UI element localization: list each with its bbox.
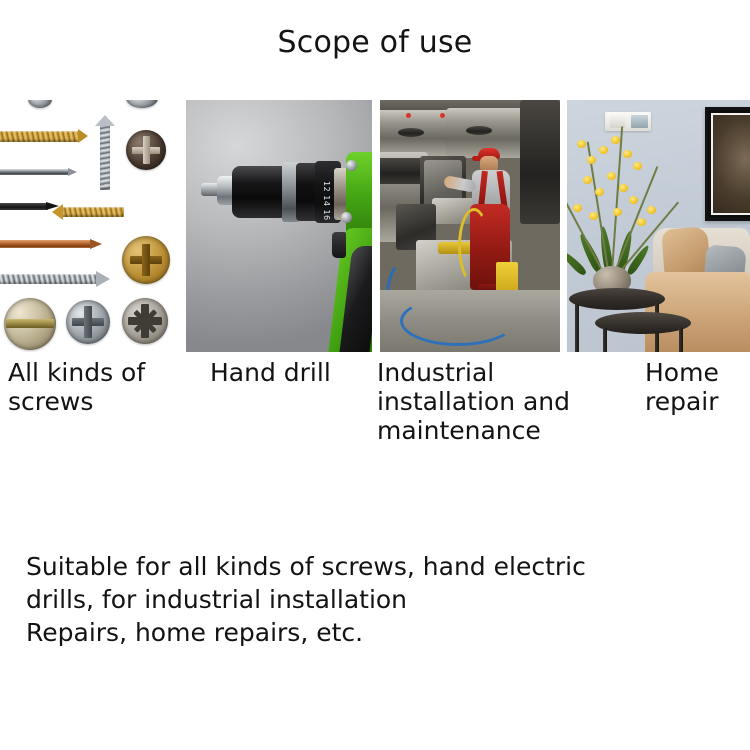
screw-silver-vertical	[100, 124, 110, 190]
orchid-bloom	[587, 156, 596, 164]
screw-head-steel-phillips	[66, 300, 110, 344]
orchid-bloom	[629, 196, 638, 204]
orchid-bloom	[607, 172, 616, 180]
slot-groove	[6, 319, 54, 328]
orchid-bloom	[589, 212, 598, 220]
tank-indicator-a	[406, 113, 411, 118]
orchid-bloom	[595, 188, 604, 196]
scope-image-strip: 12 14 16	[0, 100, 750, 352]
artwork-canvas	[711, 113, 750, 215]
side-table-tall-leg-left	[575, 304, 579, 352]
screw-head-gold-phillips	[122, 236, 170, 284]
orchid-bloom	[573, 204, 582, 212]
caption-row: All kinds of screws Hand drill Industria…	[0, 358, 750, 478]
tank-port-a	[398, 128, 424, 137]
side-table-tall-top	[569, 288, 665, 310]
screws-photo	[0, 100, 178, 352]
wall-thermostat	[605, 112, 651, 131]
framed-artwork	[705, 107, 750, 221]
screw-head-partial-top-right	[126, 100, 158, 108]
screw-silver-head-long	[96, 271, 110, 287]
orchid-bloom	[577, 140, 586, 148]
page-title: Scope of use	[0, 26, 750, 60]
blue-hose-on-floor	[400, 296, 516, 346]
screw-gold-head-2	[52, 204, 63, 220]
factory-rear-column	[520, 100, 560, 224]
housing-bolt-upper	[346, 160, 357, 171]
orchid-bloom	[647, 206, 656, 214]
orchid-bloom	[619, 184, 628, 192]
footer-description: Suitable for all kinds of screws, hand e…	[26, 550, 726, 649]
screw-head-slotted	[4, 298, 56, 350]
orchid-bloom	[611, 136, 620, 144]
nail-steel-shank	[0, 169, 70, 175]
phillips-slot-vertical	[142, 244, 150, 276]
nail-copper-shank	[0, 240, 92, 248]
orchid-bloom	[599, 146, 608, 154]
caption-industrial-installation: Industrial installation and maintenance	[377, 358, 607, 445]
orchid-bloom	[623, 150, 632, 158]
screw-gold-thread-2	[62, 207, 124, 217]
screw-silver-head	[95, 115, 115, 126]
phillips-slot-vertical	[143, 136, 150, 164]
nail-black-shank	[0, 203, 48, 210]
side-table-low-top	[595, 312, 691, 334]
side-table-low-leg-left	[603, 328, 607, 352]
thermostat-display	[631, 115, 648, 128]
orchid-bloom	[583, 176, 592, 184]
nail-copper-point	[90, 239, 102, 249]
chuck-body	[232, 166, 288, 218]
yellow-cable	[458, 208, 490, 284]
tank-port-b	[466, 126, 492, 135]
orchid-bloom	[633, 162, 642, 170]
phillips-slot-vertical	[84, 306, 92, 338]
drill-illustration: 12 14 16	[186, 100, 372, 352]
hand-drill-photo: 12 14 16	[186, 100, 372, 352]
side-table-low-leg-right	[679, 328, 683, 352]
industrial-installation-photo	[380, 100, 560, 352]
tank-indicator-b	[440, 113, 445, 118]
screw-gold-head-1	[78, 129, 88, 143]
drill-trigger	[332, 232, 346, 258]
screw-head-dark-phillips	[126, 130, 166, 170]
screw-silver-thread-long	[0, 274, 98, 284]
home-repair-photo	[567, 100, 750, 352]
orchid-bloom	[613, 208, 622, 216]
housing-bolt-lower	[341, 212, 352, 223]
orchid-bloom	[637, 218, 646, 226]
screw-gold-thread-1	[0, 131, 80, 142]
screw-head-partial-top-left	[28, 100, 52, 108]
screw-head-pozidriv	[122, 298, 168, 344]
caption-screws: All kinds of screws	[8, 358, 188, 416]
caption-hand-drill: Hand drill	[210, 358, 380, 387]
nail-steel-point	[68, 168, 77, 176]
caption-home-repair: Home repair	[645, 358, 750, 416]
